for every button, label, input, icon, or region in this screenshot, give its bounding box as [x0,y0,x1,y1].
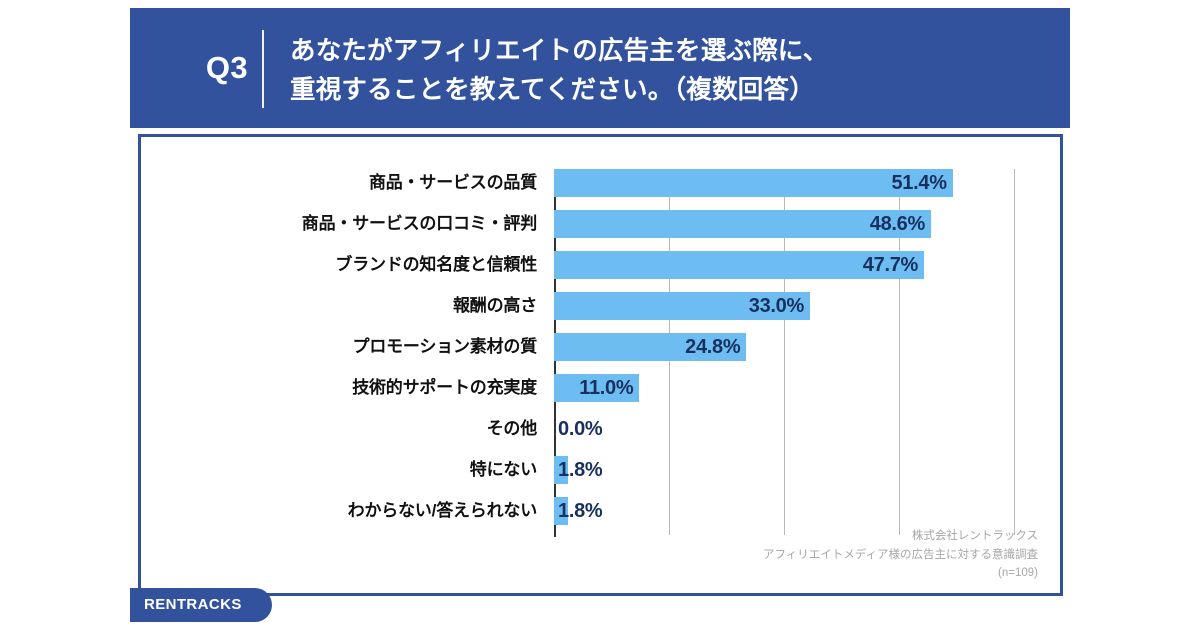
page-title: あなたがアフィリエイトの広告主を選ぶ際に、 重視することを教えてください。（複数… [290,32,1056,110]
chart-row: 特にない1.8% [141,456,1060,497]
chart-bar-wrap: 33.0% [554,292,810,320]
chart-category-label: その他 [141,415,537,443]
page-title-line-1: あなたがアフィリエイトの広告主を選ぶ際に、 [290,32,1056,71]
chart-card: 商品・サービスの品質51.4%商品・サービスの口コミ・評判48.6%ブランドの知… [138,134,1063,596]
chart-value-label: 0.0% [558,415,602,443]
chart-bar-wrap: 47.7% [554,251,924,279]
footnote-sample-size: (n=109) [763,564,1038,583]
slide-root: Q3 あなたがアフィリエイトの広告主を選ぶ際に、 重視することを教えてください。… [0,0,1200,630]
chart-value-label: 24.8% [685,333,740,361]
footnote-company: 株式会社レントラックス [763,527,1038,546]
chart-category-label: プロモーション素材の質 [141,333,537,361]
chart-value-label: 1.8% [558,456,602,484]
chart-row: 商品・サービスの口コミ・評判48.6% [141,210,1060,251]
chart-category-label: わからない/答えられない [141,497,537,525]
question-number: Q3 [172,52,282,83]
header-divider [262,30,264,108]
chart-row: 技術的サポートの充実度11.0% [141,374,1060,415]
chart-category-label: 報酬の高さ [141,292,537,320]
header-banner: Q3 あなたがアフィリエイトの広告主を選ぶ際に、 重視することを教えてください。… [130,8,1070,128]
chart-bar-wrap: 1.8% [554,497,568,525]
chart-bar-wrap: 48.6% [554,210,931,238]
chart-category-label: 商品・サービスの品質 [141,169,537,197]
chart-bar-wrap: 24.8% [554,333,746,361]
footnote: 株式会社レントラックス アフィリエイトメディア様の広告主に対する意識調査 (n=… [763,527,1038,583]
chart-value-label: 47.7% [863,251,918,279]
chart-value-label: 1.8% [558,497,602,525]
page-title-line-2: 重視することを教えてください。（複数回答） [290,71,1056,110]
chart-row: その他0.0% [141,415,1060,456]
bar-chart: 商品・サービスの品質51.4%商品・サービスの口コミ・評判48.6%ブランドの知… [141,137,1060,593]
chart-value-label: 48.6% [870,210,925,238]
chart-category-label: 特にない [141,456,537,484]
chart-row: ブランドの知名度と信頼性47.7% [141,251,1060,292]
rentracks-logo-text: RENTRACKS [144,588,242,622]
chart-bar-wrap: 1.8% [554,456,568,484]
chart-bar-wrap: 11.0% [554,374,639,402]
footnote-survey: アフィリエイトメディア様の広告主に対する意識調査 [763,546,1038,565]
chart-value-label: 51.4% [891,169,946,197]
chart-category-label: ブランドの知名度と信頼性 [141,251,537,279]
chart-bar-wrap: 0.0% [554,415,555,443]
chart-bar-wrap: 51.4% [554,169,953,197]
chart-value-label: 11.0% [579,374,633,402]
rentracks-logo-badge: RENTRACKS [130,588,272,622]
chart-row: 報酬の高さ33.0% [141,292,1060,333]
chart-category-label: 技術的サポートの充実度 [141,374,537,402]
chart-row: 商品・サービスの品質51.4% [141,169,1060,210]
chart-category-label: 商品・サービスの口コミ・評判 [141,210,537,238]
chart-row: プロモーション素材の質24.8% [141,333,1060,374]
chart-value-label: 33.0% [749,292,804,320]
